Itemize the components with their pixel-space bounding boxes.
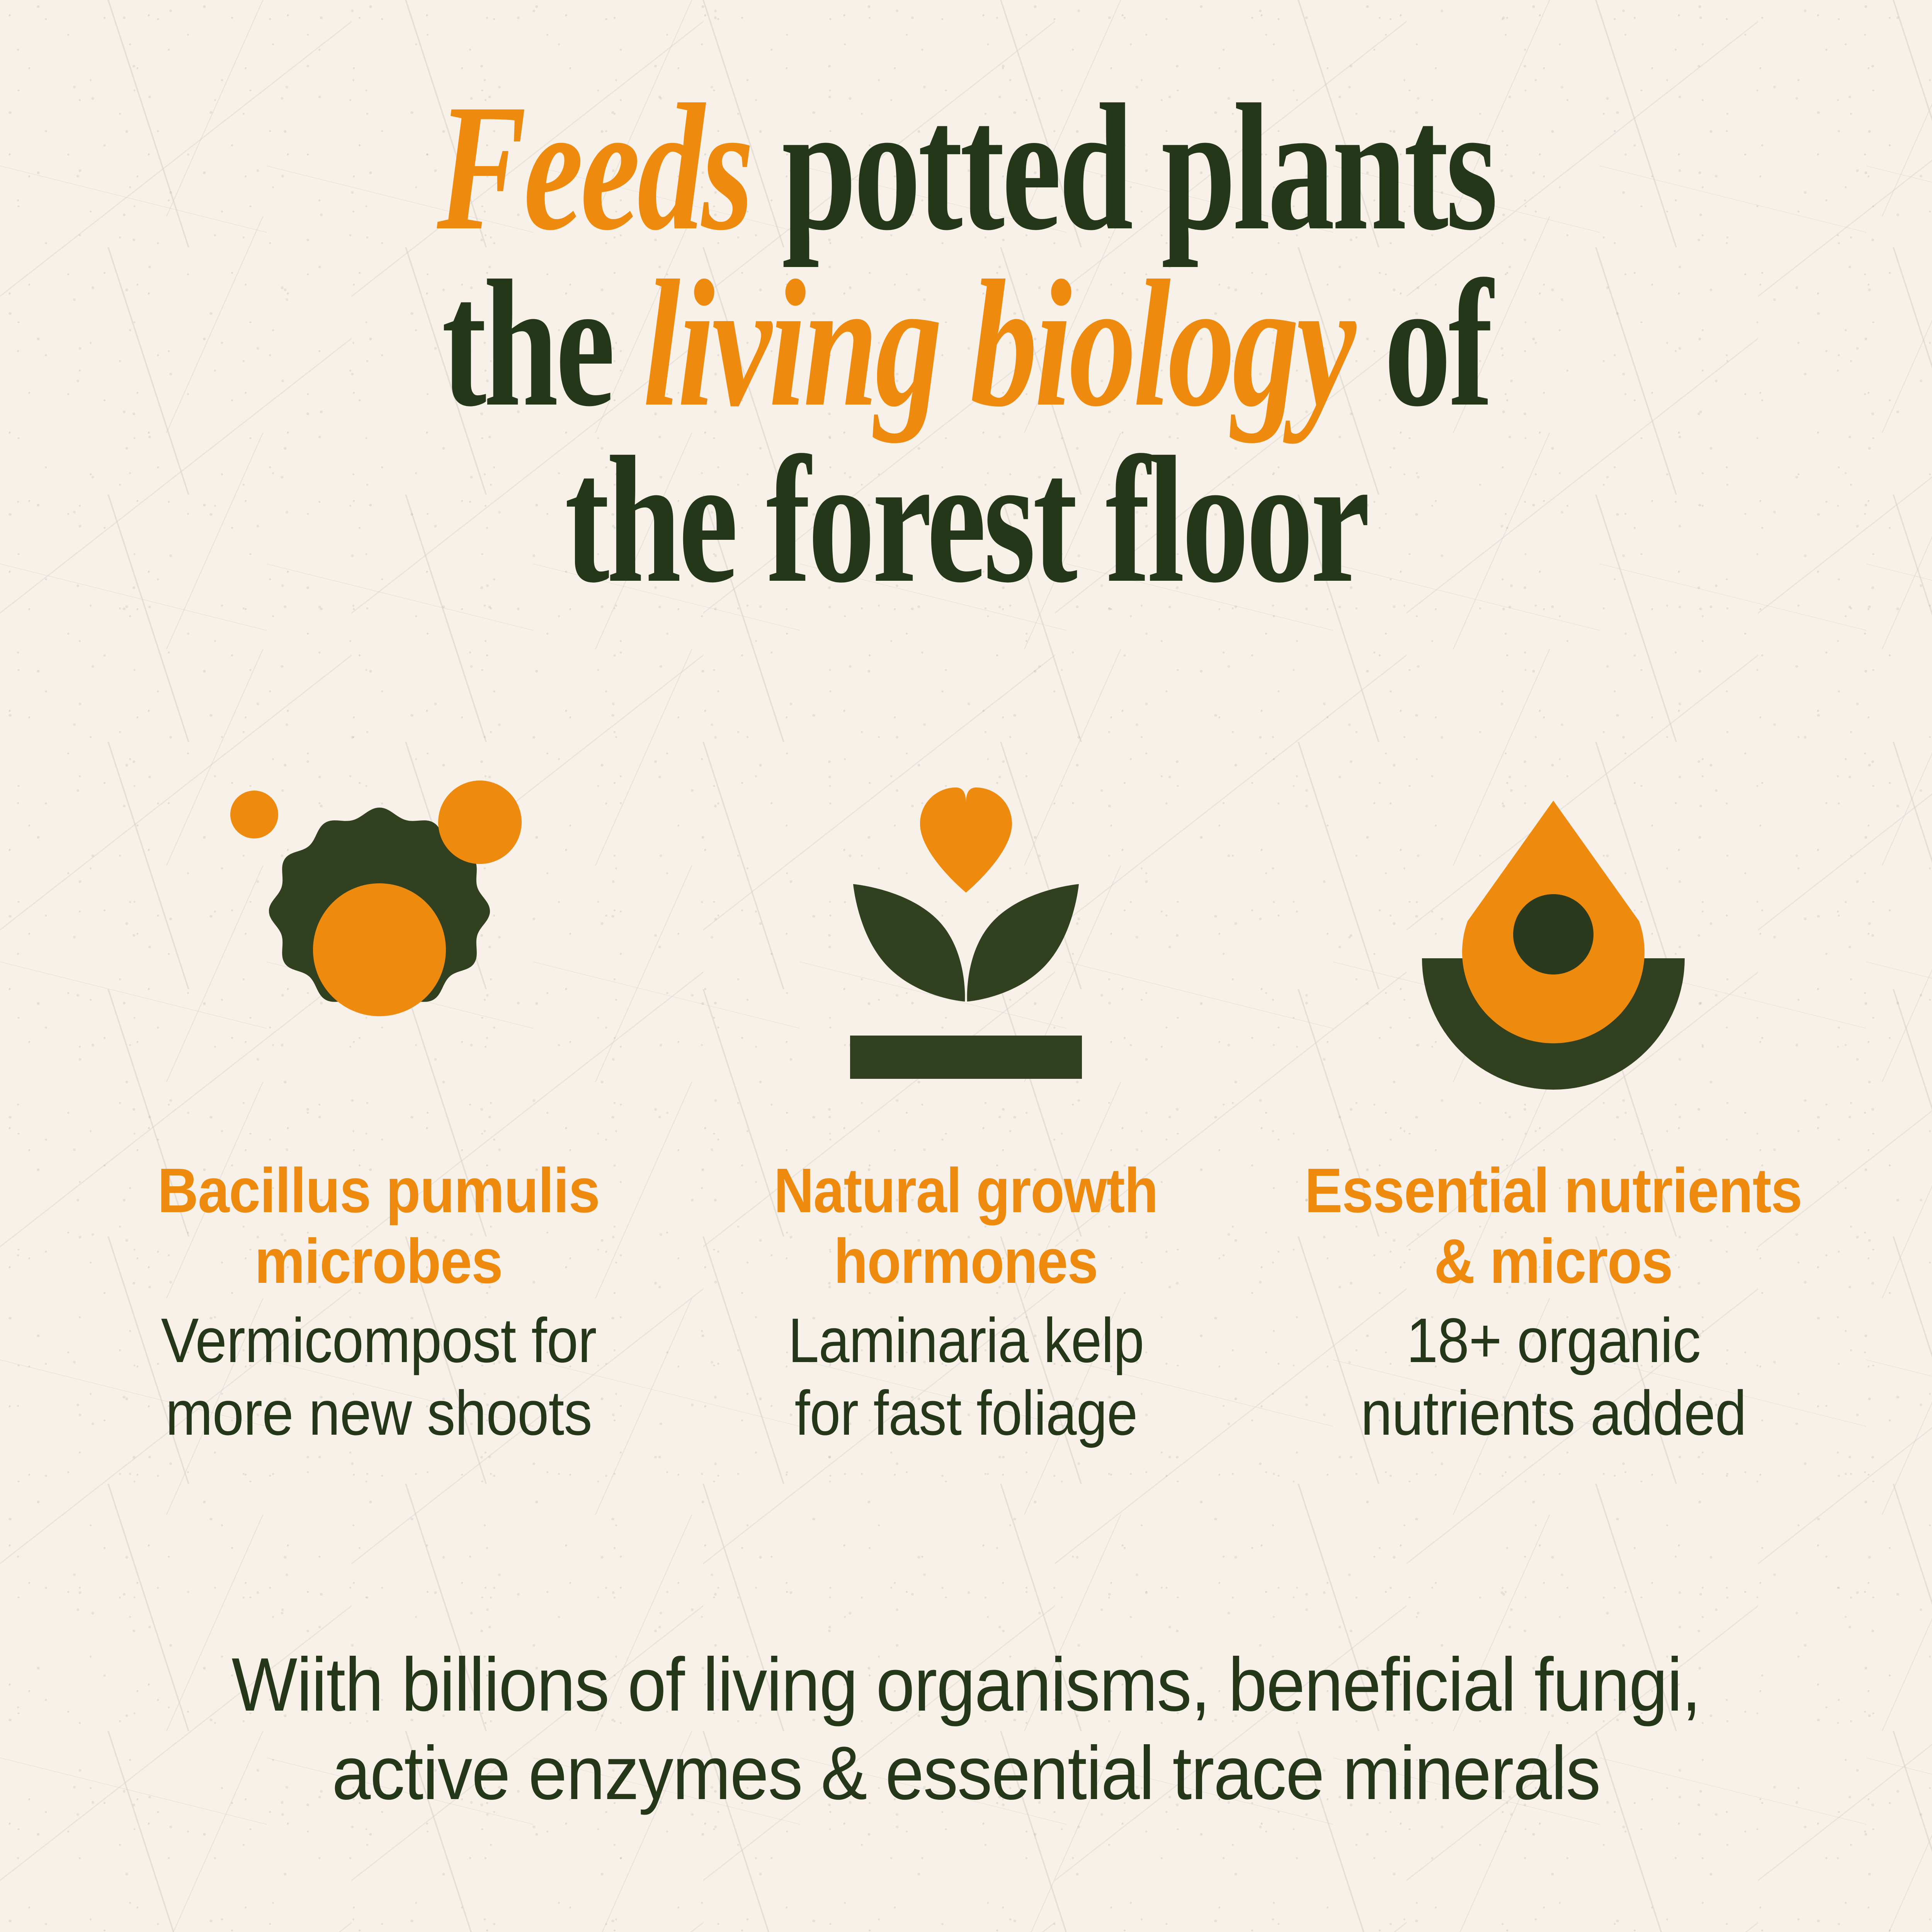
headline-line-1-rest: potted plants xyxy=(751,66,1495,268)
headline-line-2-start: the xyxy=(442,243,643,444)
microbe-colony-icon xyxy=(197,746,560,1132)
feature-subtitle: Vermicompost for more new shoots xyxy=(161,1304,597,1449)
headline-line-2: the living biology of xyxy=(251,255,1681,432)
feature-title: Bacillus pumulis microbes xyxy=(158,1155,600,1296)
footer-tagline: Wiith billions of living organisms, bene… xyxy=(141,1640,1791,1818)
headline-line-2-end: of xyxy=(1353,243,1490,444)
feature-subtitle: 18+ organic nutrients added xyxy=(1361,1304,1746,1449)
nutrient-droplet-icon xyxy=(1372,746,1735,1132)
headline-emphasis-feeds: Feeds xyxy=(437,66,751,268)
feature-title: Natural growth hormones xyxy=(774,1155,1158,1296)
headline-emphasis-living-biology: living biology xyxy=(643,243,1353,444)
infographic-canvas: Feeds potted plants the living biology o… xyxy=(0,0,1932,1932)
feature-column-microbes: Bacillus pumulis microbes Vermicompost f… xyxy=(97,746,661,1449)
feature-column-nutrients: Essential nutrients & micros 18+ organic… xyxy=(1271,746,1835,1449)
feature-column-hormones: Natural growth hormones Laminaria kelp f… xyxy=(684,746,1248,1449)
sprout-heart-icon xyxy=(784,746,1148,1132)
headline-line-3: the forest floor xyxy=(251,432,1681,608)
feature-columns: Bacillus pumulis microbes Vermicompost f… xyxy=(97,746,1835,1449)
page-title: Feeds potted plants the living biology o… xyxy=(251,79,1681,608)
feature-title: Essential nutrients & micros xyxy=(1305,1155,1802,1296)
headline-line-1: Feeds potted plants xyxy=(251,79,1681,255)
feature-subtitle: Laminaria kelp for fast foliage xyxy=(788,1304,1144,1449)
